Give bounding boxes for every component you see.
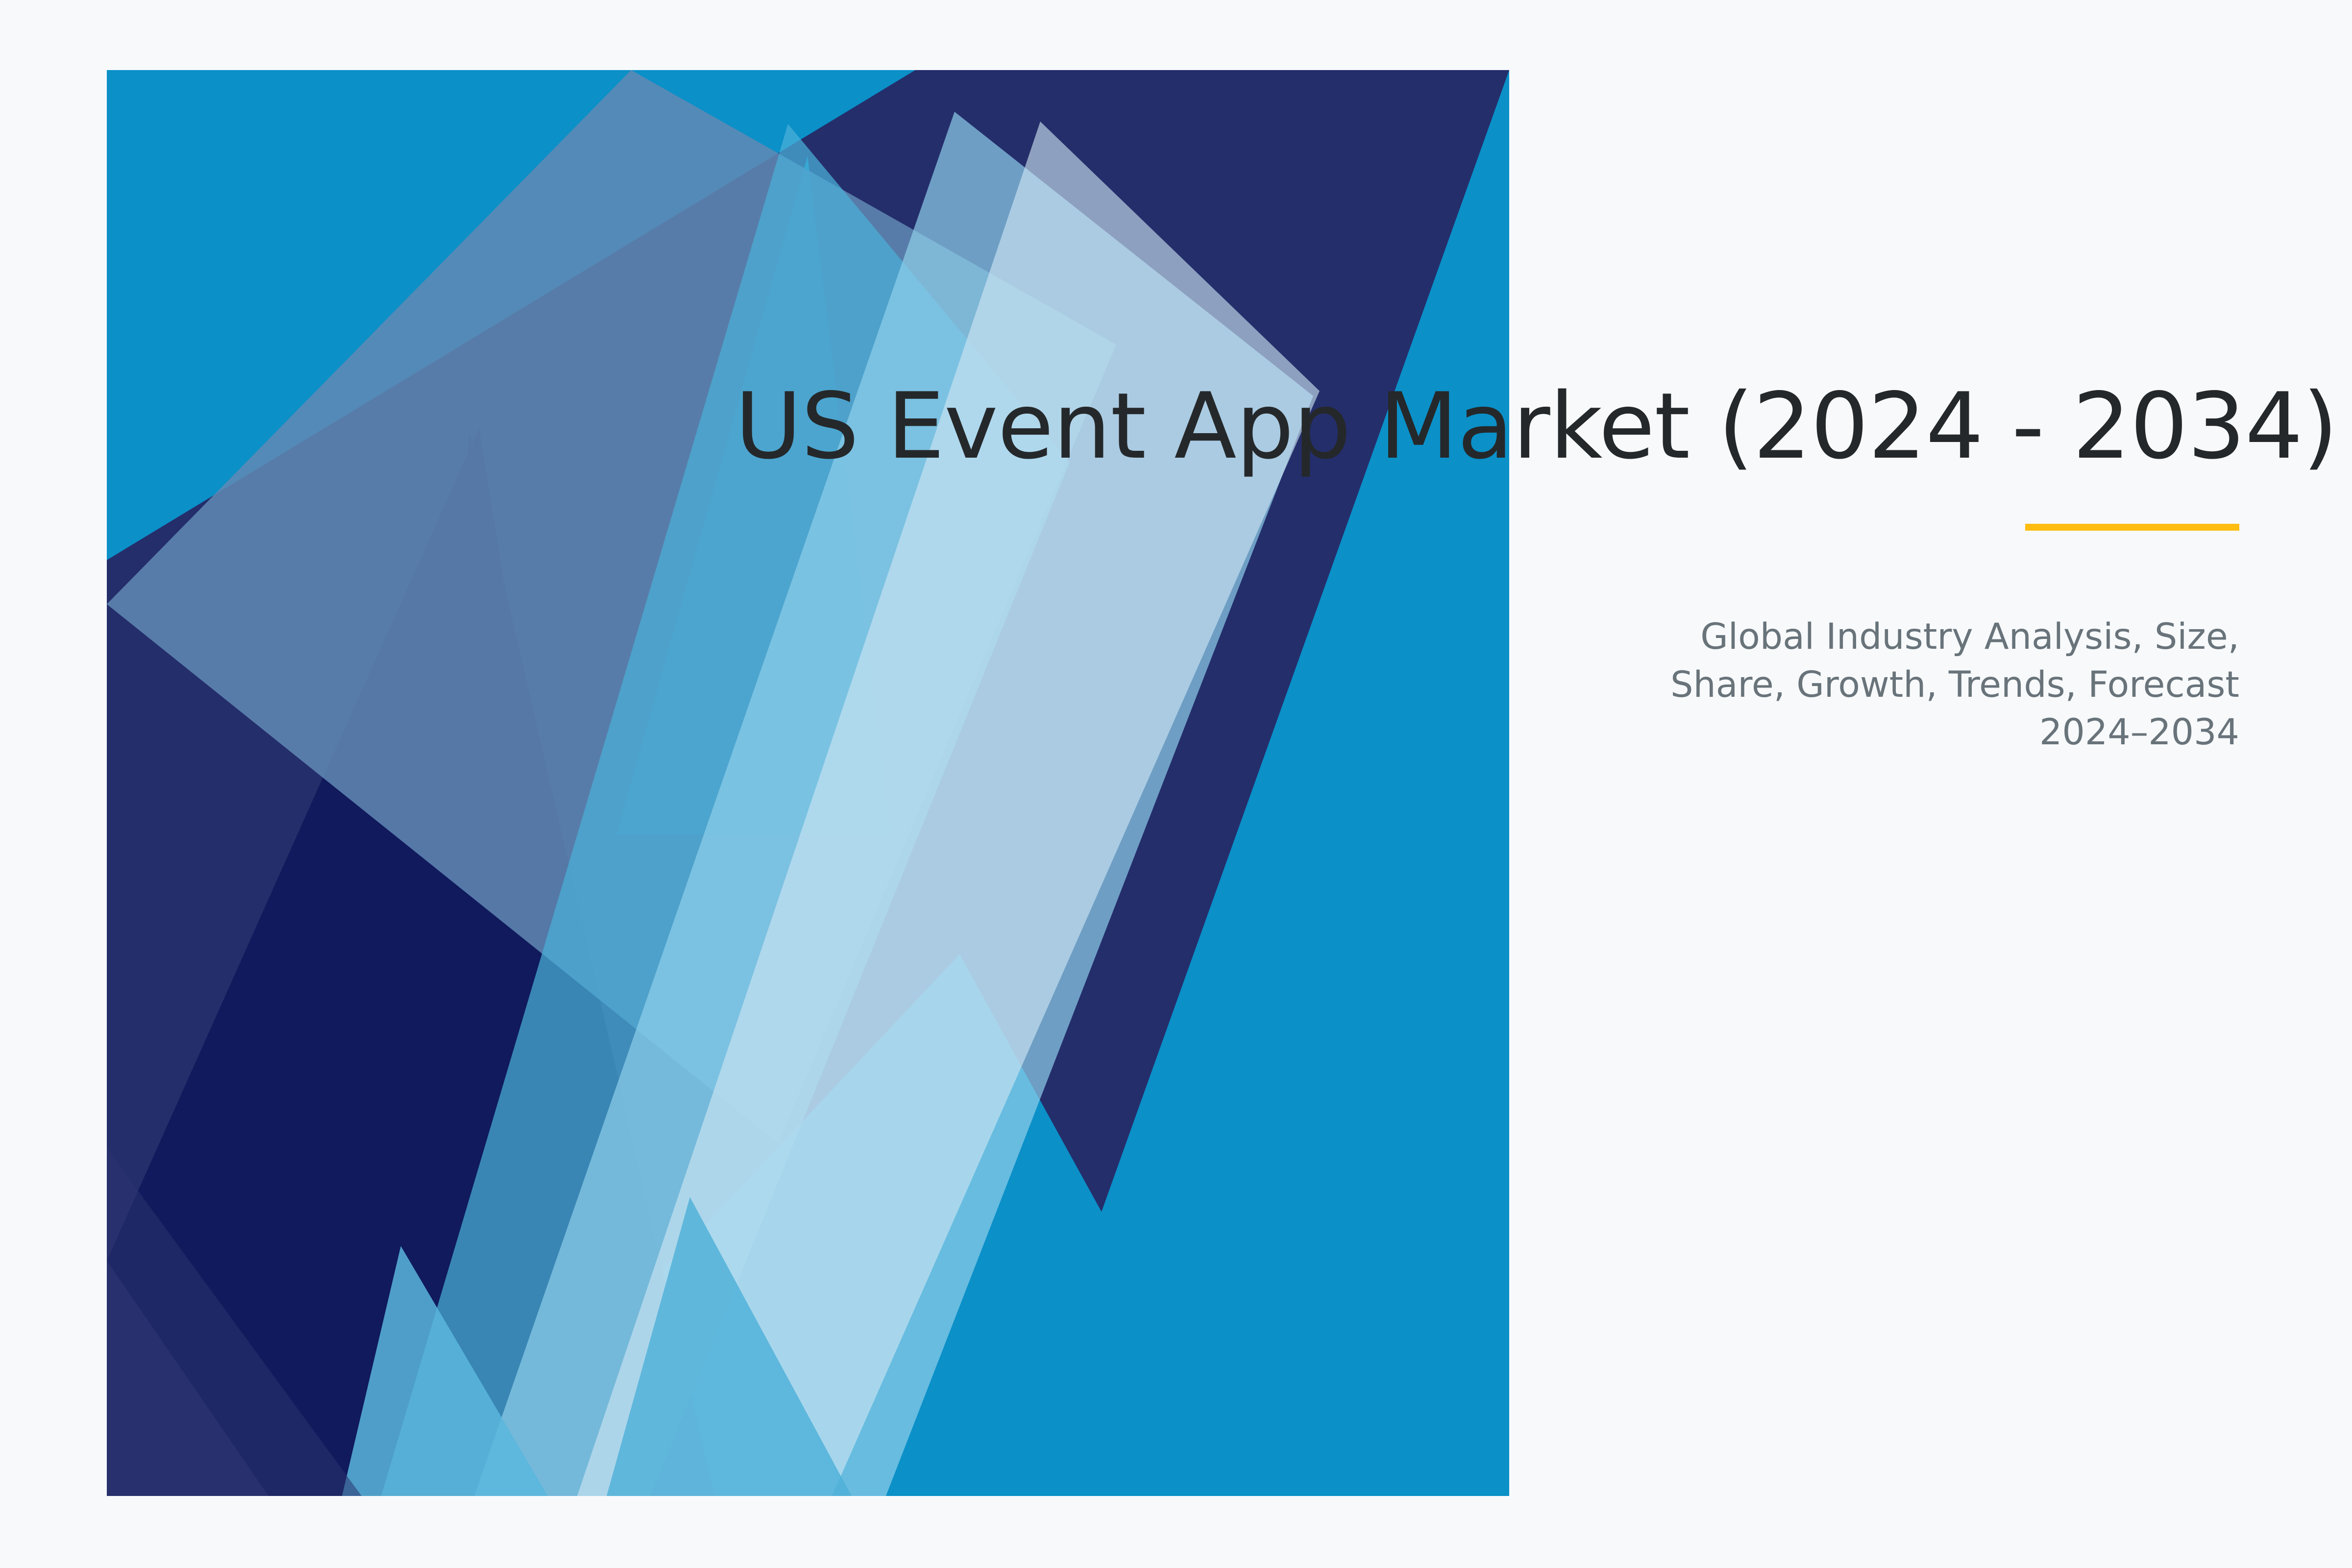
page-subtitle: Global Industry Analysis, Size, Share, G… (1602, 613, 2239, 756)
accent-bar-wrapper (735, 524, 2239, 531)
page-title: US Event App Market (2024 - 2034) (735, 372, 2239, 480)
accent-bar (2025, 524, 2239, 531)
abstract-geometric-artwork (107, 70, 1509, 1496)
cover-text-block: US Event App Market (2024 - 2034) Global… (735, 372, 2239, 756)
cover-slide: US Event App Market (2024 - 2034) Global… (0, 0, 2352, 1568)
